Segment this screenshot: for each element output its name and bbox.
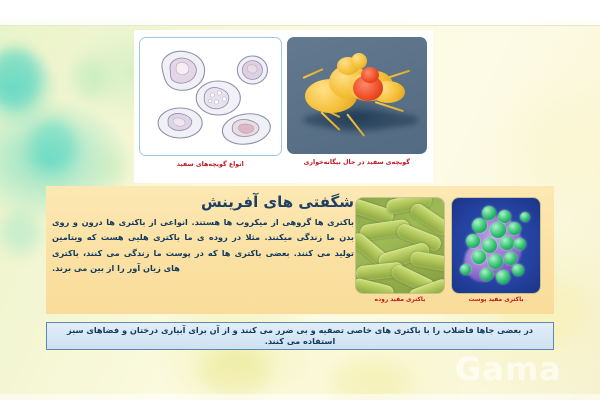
wbc-phagocytosis-image xyxy=(287,37,428,154)
top-divider-strip xyxy=(0,16,600,26)
wbc-types-illustration xyxy=(140,38,281,155)
figure-panel: انواع گویچه‌های سفید xyxy=(135,31,432,182)
top-white-margin xyxy=(0,0,600,17)
figure-wbc-phagocytosis: گویچه‌ی سفید در حال بیگانه‌خواری xyxy=(287,37,428,182)
figure-wbc-types: انواع گویچه‌های سفید xyxy=(140,37,281,182)
content-panel: شگفتی های آفرینش باکتری ها گروهی از میکر… xyxy=(46,186,554,314)
panel-title: شگفتی های آفرینش xyxy=(52,193,354,212)
bottom-white-margin xyxy=(0,394,600,400)
figure-caption: گویچه‌ی سفید در حال بیگانه‌خواری xyxy=(304,159,410,167)
watermark-label: Gama xyxy=(455,353,562,385)
mini-figure-skin-bacteria: باکتری مفید پوست xyxy=(452,198,540,304)
wbc-types-image xyxy=(139,37,282,156)
footer-callout-bar: در بعضی جاها فاضلاب را با باکتری های خاص… xyxy=(46,322,554,350)
skin-bacteria-image xyxy=(452,198,540,293)
panel-body-text: باکتری ها گروهی از میکروب ها هستند. انوا… xyxy=(52,215,354,277)
figure-caption: انواع گویچه‌های سفید xyxy=(177,161,244,169)
content-image-column: باکتری مفید روده xyxy=(356,191,544,310)
mini-figure-caption: باکتری مفید پوست xyxy=(468,297,523,304)
footer-callout-text: در بعضی جاها فاضلاب را با باکتری های خاص… xyxy=(47,325,553,346)
mini-figure-caption: باکتری مفید روده xyxy=(375,297,426,304)
content-text-column: شگفتی های آفرینش باکتری ها گروهی از میکر… xyxy=(52,191,356,310)
slide-canvas: انواع گویچه‌های سفید xyxy=(0,0,600,400)
mini-figure-gut-bacteria: باکتری مفید روده xyxy=(356,198,444,304)
gut-bacteria-image xyxy=(356,198,444,293)
